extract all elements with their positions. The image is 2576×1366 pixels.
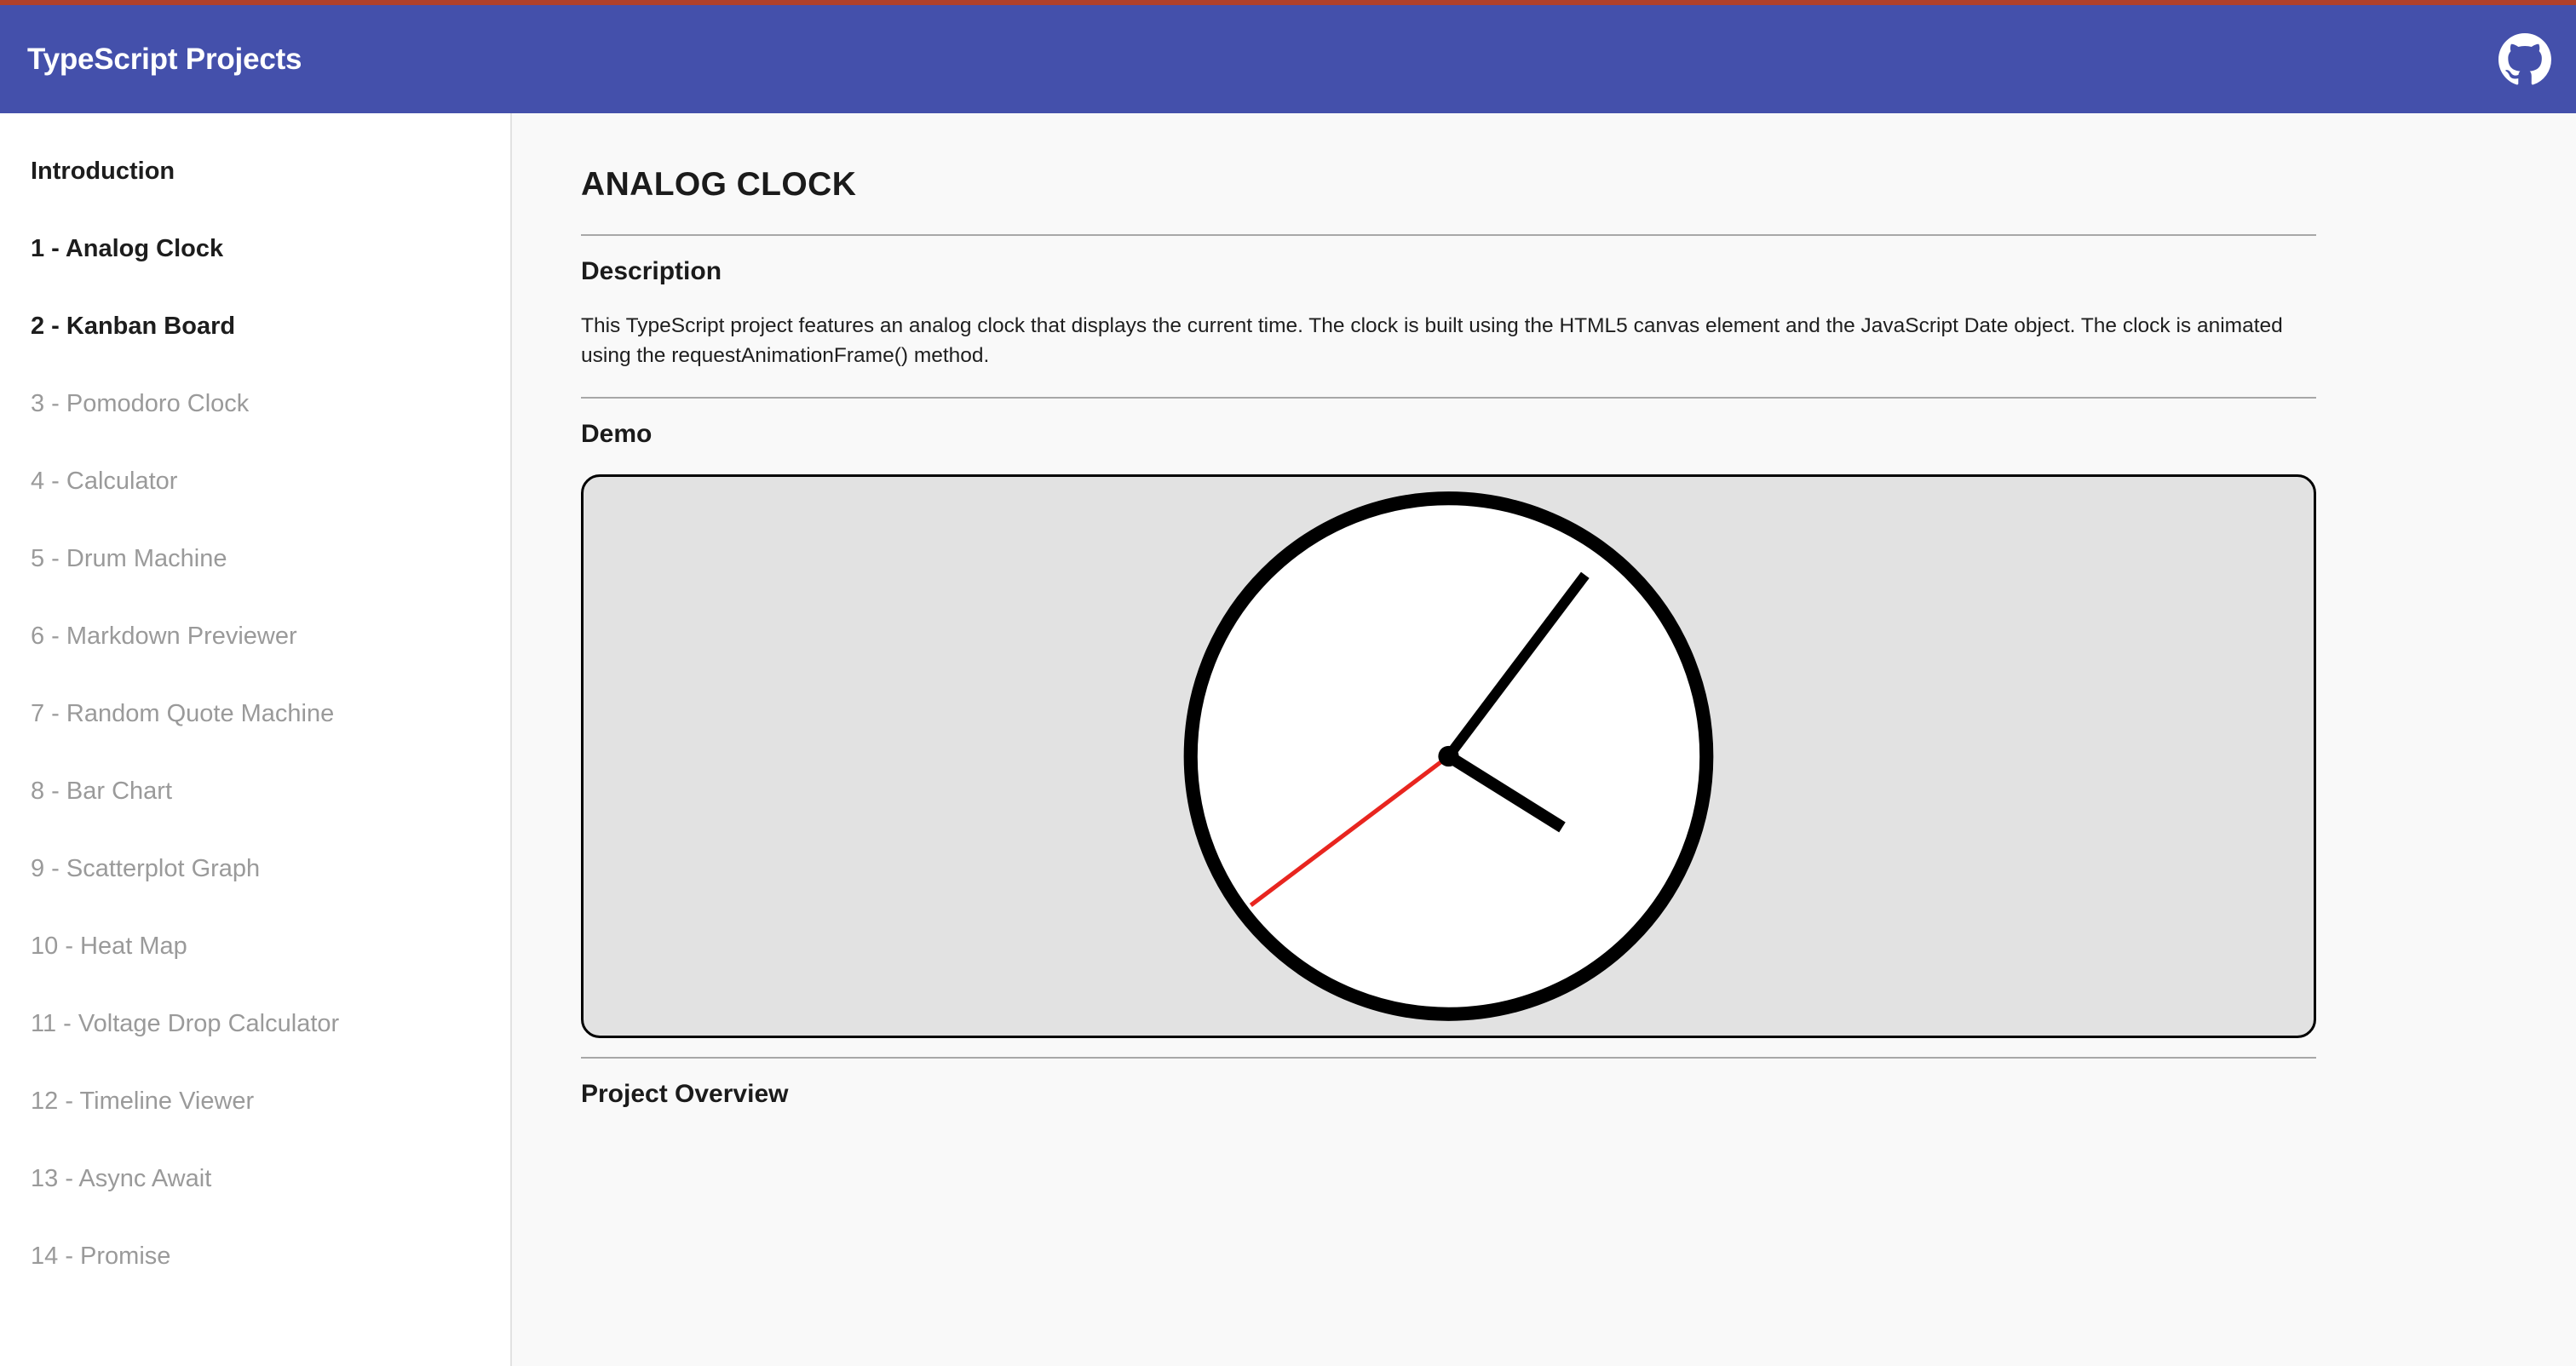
sidebar-item-random-quote-machine[interactable]: 7 - Random Quote Machine bbox=[0, 702, 510, 726]
main-content: ANALOG CLOCK Description This TypeScript… bbox=[512, 113, 2576, 1366]
demo-wrapper bbox=[581, 474, 2316, 1038]
sidebar-item-calculator[interactable]: 4 - Calculator bbox=[0, 469, 510, 494]
sidebar-nav: Introduction 1 - Analog Clock 2 - Kanban… bbox=[0, 113, 512, 1366]
sidebar-item-voltage-drop-calculator[interactable]: 11 - Voltage Drop Calculator bbox=[0, 1012, 510, 1036]
sidebar-item-async-await[interactable]: 13 - Async Await bbox=[0, 1167, 510, 1191]
sidebar-item-pomodoro-clock[interactable]: 3 - Pomodoro Clock bbox=[0, 392, 510, 416]
sidebar-item-analog-clock[interactable]: 1 - Analog Clock bbox=[0, 237, 510, 261]
sidebar-item-bar-chart[interactable]: 8 - Bar Chart bbox=[0, 779, 510, 804]
sidebar-item-timeline-viewer[interactable]: 12 - Timeline Viewer bbox=[0, 1089, 510, 1114]
demo-panel[interactable] bbox=[581, 474, 2316, 1038]
divider-after-demo bbox=[581, 1057, 2316, 1059]
github-mark-glyph bbox=[2498, 33, 2551, 86]
divider-after-description bbox=[581, 397, 2316, 399]
sidebar-item-scatterplot-graph[interactable]: 9 - Scatterplot Graph bbox=[0, 857, 510, 881]
app-body: Introduction 1 - Analog Clock 2 - Kanban… bbox=[0, 113, 2576, 1366]
app-title: TypeScript Projects bbox=[27, 44, 302, 74]
sidebar-item-introduction[interactable]: Introduction bbox=[0, 159, 510, 184]
description-text: This TypeScript project features an anal… bbox=[581, 312, 2316, 371]
sidebar-item-heat-map[interactable]: 10 - Heat Map bbox=[0, 934, 510, 959]
sidebar-item-promise[interactable]: 14 - Promise bbox=[0, 1244, 510, 1269]
sidebar-item-kanban-board[interactable]: 2 - Kanban Board bbox=[0, 314, 510, 339]
description-heading: Description bbox=[581, 257, 2316, 286]
page-title: ANALOG CLOCK bbox=[581, 166, 2316, 204]
demo-heading: Demo bbox=[581, 420, 2316, 449]
divider-after-title bbox=[581, 234, 2316, 236]
app-root: TypeScript Projects Introduction 1 - Ana… bbox=[0, 0, 2576, 1366]
app-header: TypeScript Projects bbox=[0, 5, 2576, 113]
sidebar-item-drum-machine[interactable]: 5 - Drum Machine bbox=[0, 547, 510, 571]
sidebar-item-markdown-previewer[interactable]: 6 - Markdown Previewer bbox=[0, 624, 510, 649]
content-tail-spacer bbox=[581, 1109, 2316, 1211]
analog-clock-canvas[interactable] bbox=[584, 477, 2314, 1036]
project-overview-heading: Project Overview bbox=[581, 1080, 2316, 1109]
github-icon[interactable] bbox=[2498, 32, 2552, 87]
clock-center-pivot bbox=[1438, 745, 1458, 766]
